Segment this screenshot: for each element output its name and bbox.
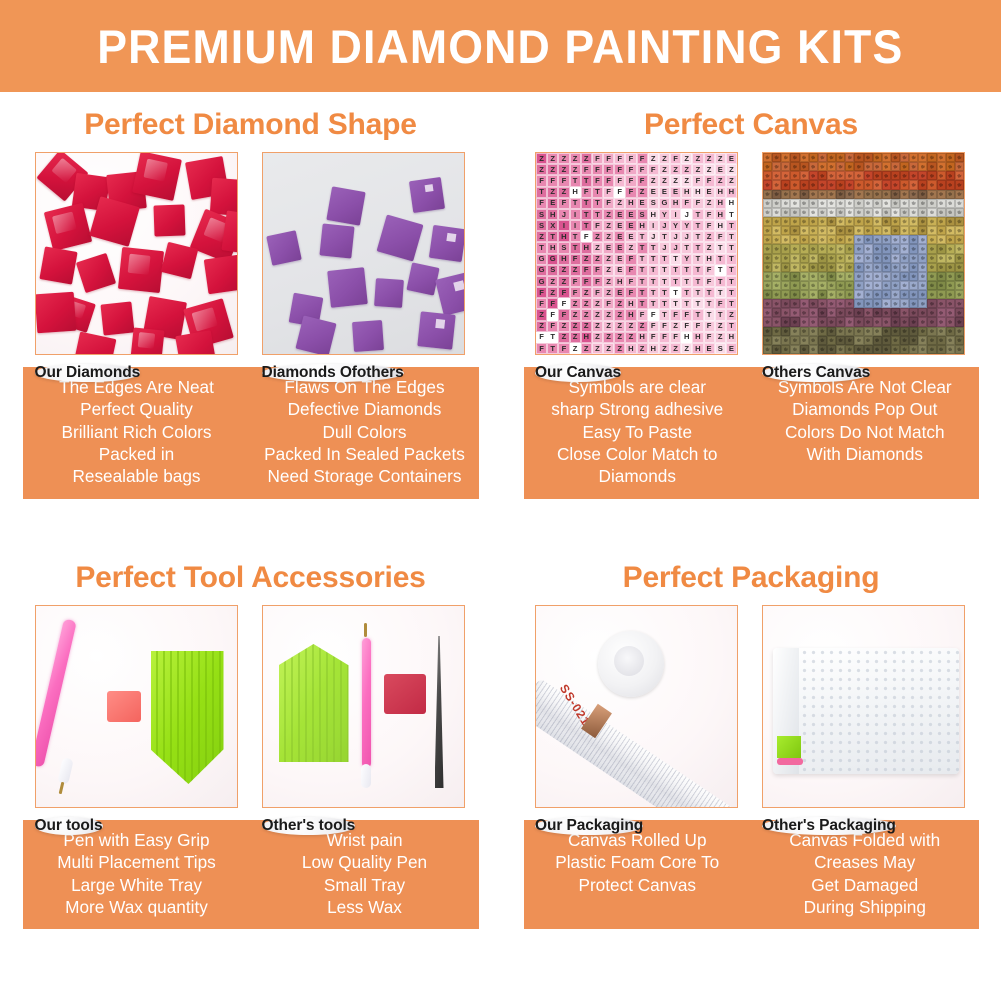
- canvas-pixel-cell: [854, 254, 863, 263]
- canvas-pixel-cell: [781, 254, 790, 263]
- canvas-symbol-cell: H: [681, 332, 692, 343]
- photo-our-packaging: SS-021: [535, 605, 738, 808]
- canvas-pixel-cell: [918, 190, 927, 199]
- canvas-pixel-cell: [955, 317, 964, 326]
- pen-needle-icon: [364, 623, 367, 637]
- canvas-pixel-cell: [763, 199, 772, 208]
- caption-our-diamonds: Our Diamonds: [35, 364, 141, 382]
- caption-our-tools: Our tools: [35, 817, 103, 835]
- canvas-symbol-cell: T: [592, 187, 603, 198]
- canvas-symbol-cell: F: [581, 187, 592, 198]
- canvas-pixel-cell: [909, 208, 918, 217]
- photo-pair-tools: Our tools Other's tools: [0, 605, 501, 808]
- canvas-symbol-cell: Z: [558, 164, 569, 175]
- canvas-symbol-cell: F: [625, 153, 636, 164]
- canvas-symbol-cell: Z: [614, 321, 625, 332]
- canvas-symbol-cell: Z: [570, 298, 581, 309]
- canvas-symbol-cell: T: [637, 298, 648, 309]
- canvas-pixel-cell: [937, 226, 946, 235]
- canvas-symbol-cell: H: [625, 198, 636, 209]
- canvas-symbol-cell: T: [570, 231, 581, 242]
- canvas-pixel-cell: [809, 208, 818, 217]
- canvas-pixel-cell: [790, 171, 799, 180]
- canvas-pixel-cell: [946, 153, 955, 162]
- canvas-symbol-cell: F: [570, 276, 581, 287]
- canvas-pixel-cell: [882, 226, 891, 235]
- mailer-contents-green: [777, 736, 801, 758]
- canvas-pixel-cell: [772, 235, 781, 244]
- canvas-pixel-cell: [854, 217, 863, 226]
- canvas-symbol-cell: F: [692, 175, 703, 186]
- canvas-pixel-cell: [800, 190, 809, 199]
- canvas-pixel-cell: [864, 180, 873, 189]
- canvas-pixel-cell: [772, 317, 781, 326]
- caption-others-tools: Other's tools: [262, 817, 356, 835]
- canvas-symbol-cell: X: [547, 220, 558, 231]
- canvas-pixel-cell: [845, 199, 854, 208]
- canvas-pixel-cell: [891, 199, 900, 208]
- canvas-symbol-cell: Z: [603, 254, 614, 265]
- canvas-symbol-cell: S: [648, 198, 659, 209]
- section-diamond-shape: Perfect Diamond Shape Our Diamonds Diamo…: [0, 92, 501, 545]
- canvas-symbol-cell: F: [704, 175, 715, 186]
- photo-our-tools: [35, 605, 238, 808]
- canvas-symbol-cell: F: [536, 198, 547, 209]
- canvas-pixel-cell: [800, 217, 809, 226]
- canvas-symbol-cell: T: [715, 265, 726, 276]
- canvas-symbol-cell: Z: [726, 164, 737, 175]
- canvas-symbol-cell: T: [659, 276, 670, 287]
- red-diamond: [39, 246, 77, 284]
- canvas-symbol-cell: T: [570, 175, 581, 186]
- canvas-pixel-cell: [836, 308, 845, 317]
- canvas-pixel-cell: [918, 308, 927, 317]
- canvas-symbol-cell: F: [592, 276, 603, 287]
- canvas-pixel-cell: [946, 180, 955, 189]
- canvas-pixel-cell: [781, 281, 790, 290]
- canvas-symbol-cell: Z: [637, 321, 648, 332]
- canvas-pixel-cell: [790, 327, 799, 336]
- canvas-symbol-cell: Z: [648, 153, 659, 164]
- canvas-symbol-cell: F: [704, 220, 715, 231]
- canvas-symbol-cell: Z: [558, 332, 569, 343]
- canvas-symbol-cell: Z: [637, 343, 648, 354]
- canvas-symbol-cell: F: [558, 298, 569, 309]
- canvas-pixel-cell: [836, 153, 845, 162]
- canvas-pixel-cell: [763, 226, 772, 235]
- canvas-pixel-cell: [927, 244, 936, 253]
- canvas-pixel-cell: [937, 199, 946, 208]
- section-title-diamond-shape: Perfect Diamond Shape: [0, 92, 501, 142]
- canvas-pixel-cell: [927, 208, 936, 217]
- canvas-symbol-cell: T: [726, 287, 737, 298]
- canvas-symbol-cell: Z: [558, 187, 569, 198]
- purple-diamond: [351, 320, 383, 352]
- canvas-symbol-cell: H: [558, 231, 569, 242]
- canvas-pixel-cell: [882, 254, 891, 263]
- panel-col-ours: The Edges Are Neat Perfect Quality Brill…: [23, 367, 251, 499]
- canvas-symbol-cell: Z: [592, 343, 603, 354]
- canvas-pixel-cell: [836, 199, 845, 208]
- red-diamond: [132, 152, 182, 201]
- canvas-pixel-cell: [818, 308, 827, 317]
- canvas-symbol-cell: F: [592, 265, 603, 276]
- section-packaging: Perfect Packaging SS-021 Our Packaging: [501, 545, 1001, 1001]
- canvas-symbol-cell: Z: [592, 298, 603, 309]
- canvas-pixel-cell: [900, 336, 909, 345]
- canvas-pixel-cell: [900, 235, 909, 244]
- canvas-symbol-cell: T: [704, 287, 715, 298]
- canvas-pixel-cell: [800, 308, 809, 317]
- canvas-symbol-cell: F: [536, 332, 547, 343]
- canvas-pixel-cell: [818, 272, 827, 281]
- canvas-pixel-cell: [800, 244, 809, 253]
- canvas-symbol-cell: T: [692, 231, 703, 242]
- canvas-symbol-cell: F: [536, 298, 547, 309]
- canvas-symbol-cell: Z: [547, 187, 558, 198]
- canvas-pixel-cell: [809, 299, 818, 308]
- canvas-symbol-cell: T: [726, 209, 737, 220]
- canvas-pixel-cell: [891, 317, 900, 326]
- canvas-pixel-cell: [781, 208, 790, 217]
- photo-our-canvas: ZZZZZFFFFFZZFZZZZEZZZZFFFFFFFZZZZZEZFFFT…: [535, 152, 738, 355]
- canvas-symbol-cell: Z: [558, 321, 569, 332]
- canvas-symbol-cell: J: [648, 231, 659, 242]
- canvas-pixel-cell: [955, 199, 964, 208]
- canvas-symbol-cell: Z: [704, 231, 715, 242]
- canvas-pixel-cell: [873, 244, 882, 253]
- canvas-pixel-cell: [900, 317, 909, 326]
- canvas-pixel-cell: [818, 254, 827, 263]
- canvas-symbol-cell: H: [637, 220, 648, 231]
- canvas-symbol-cell: E: [603, 242, 614, 253]
- canvas-pixel-cell: [882, 180, 891, 189]
- canvas-pixel-cell: [873, 281, 882, 290]
- canvas-symbol-cell: J: [659, 242, 670, 253]
- canvas-pixel-cell: [873, 327, 882, 336]
- canvas-pixel-cell: [891, 235, 900, 244]
- canvas-symbol-cell: F: [581, 164, 592, 175]
- wax-square: [384, 674, 426, 714]
- canvas-pixel-cell: [854, 235, 863, 244]
- canvas-pixel-cell: [827, 226, 836, 235]
- canvas-symbol-cell: F: [659, 332, 670, 343]
- canvas-pixel-cell: [772, 327, 781, 336]
- canvas-symbol-cell: Z: [625, 242, 636, 253]
- canvas-pixel-cell: [827, 190, 836, 199]
- canvas-symbol-cell: T: [592, 209, 603, 220]
- canvas-pixel-cell: [827, 281, 836, 290]
- canvas-symbol-cell: S: [536, 220, 547, 231]
- purple-diamond: [428, 225, 464, 262]
- canvas-symbol-cell: T: [692, 309, 703, 320]
- canvas-pixel-cell: [909, 345, 918, 354]
- canvas-pixel-cell: [800, 254, 809, 263]
- canvas-pixel-cell: [809, 162, 818, 171]
- canvas-symbol-cell: T: [726, 220, 737, 231]
- canvas-pixel-cell: [946, 199, 955, 208]
- pink-pen-body: [362, 638, 371, 768]
- photo-others-packaging: [762, 605, 965, 808]
- canvas-symbol-cell: E: [670, 187, 681, 198]
- canvas-pixel-cell: [781, 327, 790, 336]
- canvas-symbol-cell: Z: [547, 287, 558, 298]
- canvas-symbol-cell: F: [625, 175, 636, 186]
- canvas-symbol-cell: F: [648, 321, 659, 332]
- canvas-symbol-cell: Z: [670, 175, 681, 186]
- canvas-pixel-cell: [763, 235, 772, 244]
- canvas-symbol-cell: H: [715, 220, 726, 231]
- canvas-pixel-cell: [836, 281, 845, 290]
- canvas-pixel-cell: [781, 263, 790, 272]
- canvas-symbol-cell: T: [570, 198, 581, 209]
- canvas-symbol-cell: E: [637, 198, 648, 209]
- canvas-symbol-cell: F: [704, 321, 715, 332]
- canvas-symbol-cell: S: [547, 265, 558, 276]
- canvas-symbol-cell: Z: [659, 343, 670, 354]
- canvas-pixel-cell: [836, 235, 845, 244]
- canvas-pixel-cell: [790, 235, 799, 244]
- canvas-pixel-cell: [854, 299, 863, 308]
- canvas-pixel-cell: [763, 162, 772, 171]
- canvas-symbol-cell: Z: [581, 287, 592, 298]
- canvas-symbol-cell: H: [692, 343, 703, 354]
- canvas-pixel-cell: [909, 217, 918, 226]
- canvas-symbol-cell: E: [704, 187, 715, 198]
- photo-col-others-packaging: Other's Packaging: [762, 605, 967, 808]
- canvas-symbol-cell: Z: [670, 321, 681, 332]
- canvas-pixel-cell: [891, 263, 900, 272]
- canvas-pixel-cell: [927, 226, 936, 235]
- canvas-pixel-cell: [946, 254, 955, 263]
- canvas-pixel-cell: [845, 290, 854, 299]
- canvas-pixel-cell: [772, 208, 781, 217]
- purple-diamond: [326, 186, 365, 225]
- canvas-pixel-cell: [864, 290, 873, 299]
- canvas-pixel-cell: [927, 217, 936, 226]
- canvas-symbol-cell: T: [581, 220, 592, 231]
- canvas-symbol-cell: H: [570, 187, 581, 198]
- canvas-pixel-cell: [827, 153, 836, 162]
- canvas-symbol-cell: S: [715, 343, 726, 354]
- canvas-symbol-cell: T: [726, 276, 737, 287]
- canvas-pixel-cell: [864, 299, 873, 308]
- canvas-pixel-cell: [918, 171, 927, 180]
- canvas-pixel-cell: [836, 162, 845, 171]
- canvas-symbol-cell: F: [592, 175, 603, 186]
- canvas-pixel-cell: [927, 162, 936, 171]
- canvas-symbol-cell: Z: [614, 309, 625, 320]
- canvas-symbol-cell: Z: [547, 276, 558, 287]
- canvas-pixel-cell: [900, 308, 909, 317]
- canvas-pixel-cell: [927, 336, 936, 345]
- canvas-symbol-cell: Z: [659, 153, 670, 164]
- canvas-pixel-cell: [809, 336, 818, 345]
- canvas-symbol-cell: Z: [570, 265, 581, 276]
- canvas-symbol-cell: Z: [603, 265, 614, 276]
- canvas-symbol-cell: F: [570, 287, 581, 298]
- canvas-symbol-cell: F: [704, 265, 715, 276]
- canvas-pixel-cell: [827, 208, 836, 217]
- canvas-pixel-cell: [836, 190, 845, 199]
- canvas-pixel-cell: [818, 317, 827, 326]
- canvas-symbol-cell: Z: [581, 309, 592, 320]
- canvas-symbol-cell: T: [581, 175, 592, 186]
- canvas-pixel-cell: [873, 336, 882, 345]
- canvas-pixel-cell: [918, 263, 927, 272]
- canvas-symbol-cell: I: [570, 209, 581, 220]
- canvas-symbol-cell: T: [704, 309, 715, 320]
- canvas-pixel-cell: [800, 290, 809, 299]
- canvas-pixel-cell: [918, 217, 927, 226]
- canvas-pixel-cell: [946, 208, 955, 217]
- canvas-symbol-cell: H: [715, 198, 726, 209]
- mailer-contents-pink: [777, 758, 803, 765]
- canvas-symbol-cell: T: [715, 254, 726, 265]
- canvas-pixel-cell: [937, 244, 946, 253]
- canvas-symbol-cell: T: [715, 287, 726, 298]
- canvas-pixel-cell: [946, 290, 955, 299]
- canvas-pixel-cell: [772, 263, 781, 272]
- canvas-pixel-cell: [818, 235, 827, 244]
- canvas-symbol-cell: T: [670, 287, 681, 298]
- canvas-symbol-cell: E: [625, 220, 636, 231]
- canvas-pixel-cell: [763, 153, 772, 162]
- canvas-symbol-cell: Z: [614, 198, 625, 209]
- canvas-pixel-cell: [763, 327, 772, 336]
- canvas-symbol-cell: F: [670, 309, 681, 320]
- canvas-pixel-cell: [882, 272, 891, 281]
- canvas-pixel-cell: [909, 254, 918, 263]
- canvas-symbol-cell: Z: [603, 287, 614, 298]
- canvas-pixel-cell: [836, 317, 845, 326]
- canvas-pixel-cell: [772, 226, 781, 235]
- canvas-pixel-cell: [927, 317, 936, 326]
- canvas-symbol-cell: F: [659, 321, 670, 332]
- canvas-symbol-cell: H: [726, 198, 737, 209]
- canvas-pixel-cell: [955, 153, 964, 162]
- canvas-pixel-cell: [873, 254, 882, 263]
- canvas-pixel-cell: [845, 235, 854, 244]
- canvas-pixel-cell: [873, 235, 882, 244]
- canvas-symbol-cell: E: [614, 254, 625, 265]
- canvas-pixel-cell: [827, 263, 836, 272]
- canvas-pixel-cell: [909, 281, 918, 290]
- canvas-pixel-cell: [891, 345, 900, 354]
- canvas-symbol-cell: T: [659, 298, 670, 309]
- canvas-pixel-cell: [781, 308, 790, 317]
- canvas-pixel-cell: [772, 345, 781, 354]
- canvas-symbol-cell: H: [648, 209, 659, 220]
- canvas-pixel-cell: [955, 217, 964, 226]
- canvas-pixel-cell: [845, 254, 854, 263]
- canvas-pixel-cell: [800, 199, 809, 208]
- purple-diamond: [406, 262, 439, 295]
- canvas-pixel-cell: [809, 254, 818, 263]
- canvas-symbol-cell: H: [625, 309, 636, 320]
- canvas-symbol-cell: T: [536, 187, 547, 198]
- canvas-symbol-cell: F: [637, 164, 648, 175]
- canvas-pixel-cell: [763, 272, 772, 281]
- canvas-symbol-cell: T: [681, 276, 692, 287]
- canvas-pixel-cell: [864, 208, 873, 217]
- canvas-pixel-cell: [873, 153, 882, 162]
- canvas-symbol-cell: T: [715, 242, 726, 253]
- canvas-symbol-cell: Z: [592, 309, 603, 320]
- canvas-pixel-cell: [909, 336, 918, 345]
- canvas-symbol-cell: E: [614, 287, 625, 298]
- wax-square: [107, 691, 141, 722]
- canvas-pixel-cell: [763, 299, 772, 308]
- canvas-pixel-cell: [864, 281, 873, 290]
- canvas-pixel-cell: [955, 171, 964, 180]
- canvas-pixel-cell: [845, 263, 854, 272]
- canvas-symbol-cell: T: [704, 298, 715, 309]
- canvas-pixel-cell: [891, 226, 900, 235]
- canvas-symbol-cell: Z: [637, 187, 648, 198]
- purple-diamond: [319, 223, 354, 258]
- canvas-symbol-cell: F: [558, 175, 569, 186]
- canvas-pixel-cell: [809, 263, 818, 272]
- canvas-symbol-cell: T: [637, 276, 648, 287]
- canvas-symbol-cell: F: [704, 209, 715, 220]
- canvas-pixel-cell: [836, 217, 845, 226]
- canvas-pixel-cell: [937, 345, 946, 354]
- canvas-pixel-cell: [845, 217, 854, 226]
- canvas-pixel-cell: [781, 345, 790, 354]
- canvas-symbol-cell: T: [670, 276, 681, 287]
- canvas-pixel-cell: [864, 217, 873, 226]
- canvas-symbol-cell: T: [692, 209, 703, 220]
- photo-others-diamonds: [262, 152, 465, 355]
- canvas-pixel-cell: [873, 199, 882, 208]
- canvas-pixel-cell: [873, 171, 882, 180]
- canvas-pixel-cell: [909, 180, 918, 189]
- canvas-symbol-cell: T: [681, 265, 692, 276]
- canvas-pixel-cell: [763, 180, 772, 189]
- canvas-symbol-cell: T: [670, 265, 681, 276]
- canvas-symbol-cell: H: [625, 343, 636, 354]
- canvas-pixel-cell: [827, 235, 836, 244]
- canvas-pixel-cell: [891, 290, 900, 299]
- canvas-pixel-cell: [927, 180, 936, 189]
- section-title-tool-accessories: Perfect Tool Accessories: [0, 545, 501, 595]
- canvas-pixel-cell: [809, 290, 818, 299]
- canvas-pixel-cell: [809, 235, 818, 244]
- canvas-pixel-cell: [946, 226, 955, 235]
- canvas-pixel-cell: [800, 327, 809, 336]
- canvas-symbol-cell: F: [704, 276, 715, 287]
- text-panel-tools: Pen with Easy Grip Multi Placement Tips …: [23, 820, 479, 929]
- canvas-pixel-cell: [882, 263, 891, 272]
- canvas-symbol-cell: F: [603, 175, 614, 186]
- photo-col-others-canvas: Others Canvas: [762, 152, 967, 355]
- canvas-symbol-cell: S: [637, 209, 648, 220]
- canvas-pixel-cell: [781, 180, 790, 189]
- muddy-canvas-art: [763, 153, 964, 354]
- canvas-pixel-cell: [864, 263, 873, 272]
- canvas-pixel-cell: [882, 345, 891, 354]
- purple-diamond: [374, 278, 404, 308]
- canvas-pixel-cell: [909, 226, 918, 235]
- canvas-symbol-cell: G: [536, 276, 547, 287]
- canvas-pixel-cell: [790, 180, 799, 189]
- canvas-pixel-cell: [854, 199, 863, 208]
- canvas-pixel-cell: [918, 153, 927, 162]
- canvas-symbol-cell: F: [681, 198, 692, 209]
- canvas-pixel-cell: [918, 317, 927, 326]
- canvas-pixel-cell: [873, 208, 882, 217]
